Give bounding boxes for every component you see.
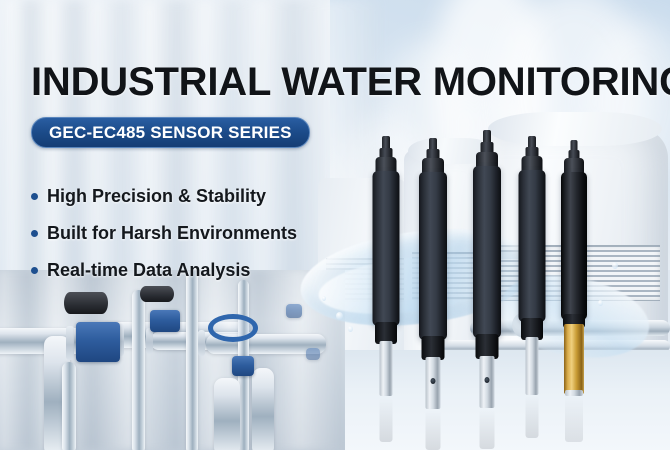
- list-item: High Precision & Stability: [31, 178, 297, 215]
- industrial-pipework-photo: [0, 270, 345, 450]
- probe-body: [373, 171, 400, 326]
- blue-valve-body: [306, 348, 320, 360]
- valve-handwheel: [208, 314, 258, 342]
- probe-reflection: [426, 410, 441, 450]
- sensor-probe-3[interactable]: [466, 130, 508, 400]
- probe-body: [473, 166, 501, 338]
- water-droplet: [348, 326, 353, 332]
- probe-body: [419, 172, 447, 340]
- blue-valve-body: [286, 304, 302, 318]
- feature-list: High Precision & Stability Built for Har…: [31, 178, 297, 289]
- pipe-riser: [62, 362, 76, 450]
- sensor-probe-1[interactable]: [365, 136, 407, 398]
- feature-label: High Precision & Stability: [47, 186, 266, 207]
- probe-reflection: [380, 398, 393, 442]
- product-banner: INDUSTRIAL WATER MONITORING GEC-EC485 SE…: [0, 0, 670, 450]
- list-item: Built for Harsh Environments: [31, 215, 297, 252]
- pipe-riser: [186, 270, 198, 450]
- blue-valve-body: [150, 310, 180, 332]
- probe-reflection: [565, 396, 583, 442]
- water-droplet: [612, 262, 618, 269]
- pipe-segment: [252, 368, 274, 450]
- list-item: Real-time Data Analysis: [31, 252, 297, 289]
- pipe-riser: [132, 290, 145, 450]
- series-badge-label: GEC-EC485 SENSOR SERIES: [49, 123, 292, 143]
- water-droplet: [336, 312, 343, 320]
- sensor-probe-4[interactable]: [511, 136, 553, 398]
- probe-stem: [526, 337, 539, 395]
- probe-sensor-dot-icon: [485, 377, 490, 383]
- blue-valve-body: [76, 322, 120, 362]
- probe-sensor-dot-icon: [431, 378, 436, 384]
- pipe-segment: [214, 378, 240, 450]
- water-droplet: [322, 296, 326, 301]
- water-droplet: [598, 300, 603, 306]
- probe-body: [561, 172, 587, 320]
- pipe-flange: [66, 326, 74, 360]
- pipe-flange: [146, 328, 153, 354]
- probe-reflection: [526, 396, 539, 438]
- feature-label: Built for Harsh Environments: [47, 223, 297, 244]
- page-title: INDUSTRIAL WATER MONITORING: [31, 62, 670, 102]
- sensor-probe-2[interactable]: [412, 138, 454, 400]
- bullet-dot-icon: [31, 193, 38, 200]
- bullet-dot-icon: [31, 267, 38, 274]
- bullet-dot-icon: [31, 230, 38, 237]
- valve-actuator-cap: [64, 292, 108, 314]
- probe-brass-stem: [564, 324, 584, 394]
- pipe-flange: [198, 330, 205, 356]
- blue-valve-body: [232, 356, 254, 376]
- series-badge: GEC-EC485 SENSOR SERIES: [31, 117, 310, 148]
- probe-reflection: [480, 409, 495, 449]
- feature-label: Real-time Data Analysis: [47, 260, 250, 281]
- probe-stem: [380, 341, 393, 396]
- sensor-probe-5[interactable]: [553, 140, 595, 396]
- probe-body: [519, 170, 546, 322]
